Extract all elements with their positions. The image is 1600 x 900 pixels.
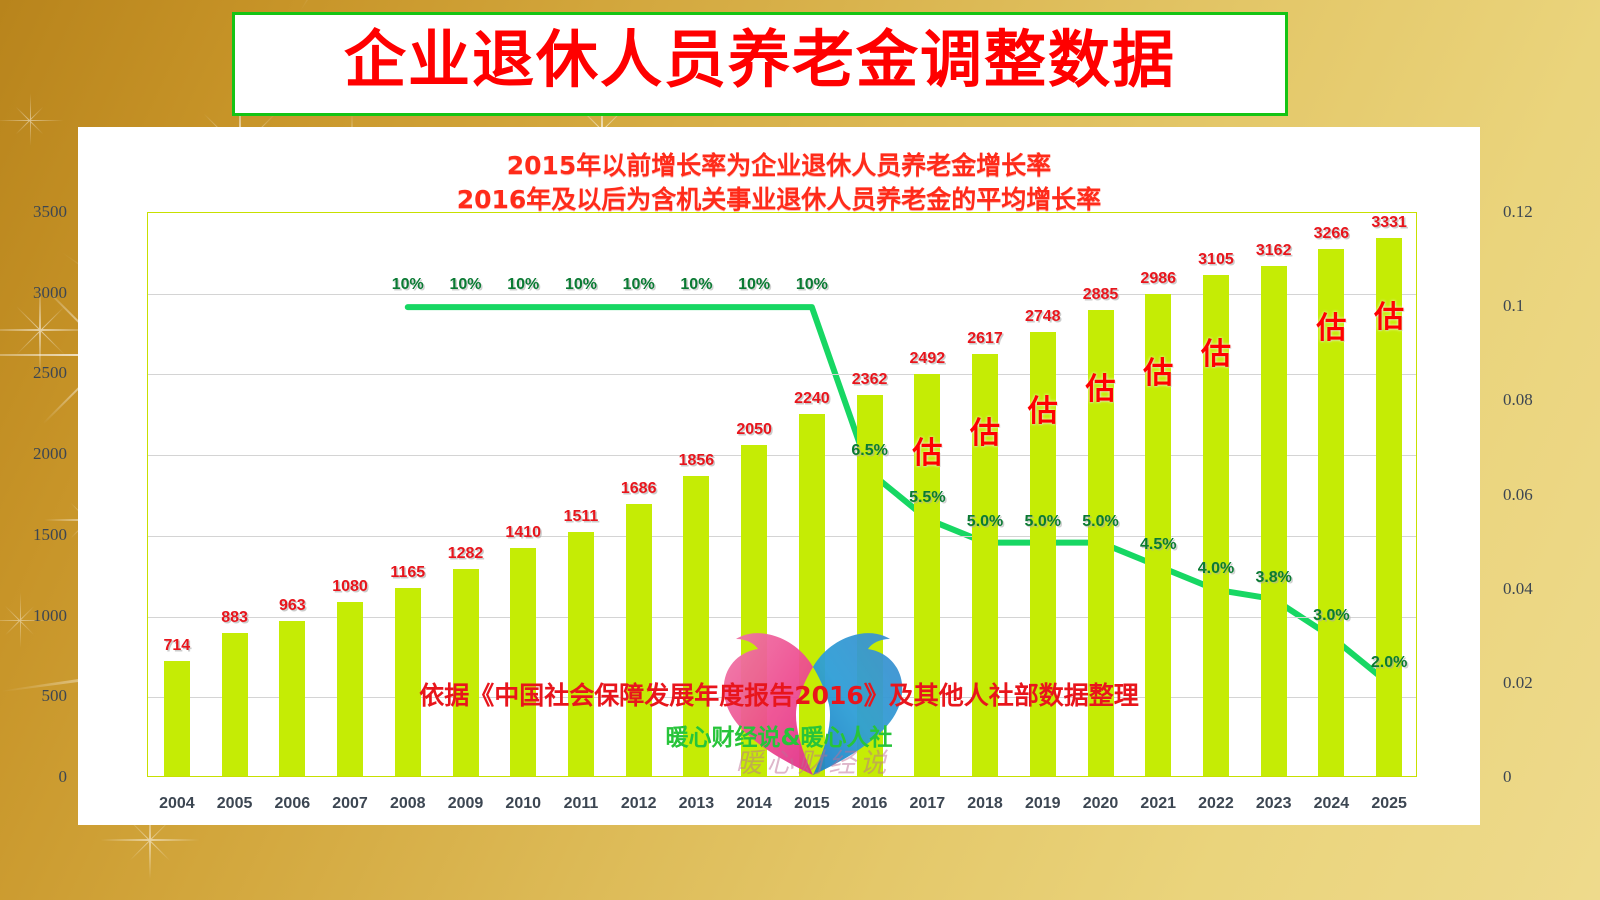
y-axis-right-tick: 0.04 — [1503, 579, 1563, 599]
estimate-mark: 估 — [1306, 303, 1356, 347]
bar-value-label: 2240 — [777, 390, 847, 408]
x-axis-tick-label: 2019 — [1013, 795, 1073, 813]
y-axis-left-tick: 1500 — [7, 525, 67, 545]
y-axis-left-tick: 2500 — [7, 363, 67, 383]
bar-value-label: 3331 — [1354, 214, 1424, 232]
estimate-mark: 估 — [1133, 348, 1183, 392]
x-axis-tick-label: 2006 — [262, 795, 322, 813]
bar-value-label: 3162 — [1239, 242, 1309, 260]
estimate-mark: 估 — [960, 408, 1010, 452]
source-note: 依据《中国社会保障发展年度报告2016》及其他人社部数据整理 — [78, 676, 1480, 712]
bar-value-label: 2748 — [1008, 308, 1078, 326]
bar-value-label: 963 — [257, 597, 327, 615]
bar-value-label: 2885 — [1066, 286, 1136, 304]
x-axis-tick-label: 2010 — [493, 795, 553, 813]
x-axis-tick-label: 2012 — [609, 795, 669, 813]
x-axis-tick-label: 2004 — [147, 795, 207, 813]
y-axis-left-tick: 3000 — [7, 283, 67, 303]
page-title-reflection: 企业退休人员养老金调整数据 — [235, 115, 1285, 116]
x-axis-tick-label: 2009 — [436, 795, 496, 813]
y-axis-left-tick: 1000 — [7, 606, 67, 626]
bar-value-label: 1511 — [546, 508, 616, 526]
estimate-mark: 估 — [1191, 329, 1241, 373]
x-axis-tick-label: 2016 — [840, 795, 900, 813]
estimate-mark: 估 — [1018, 386, 1068, 430]
x-axis-tick-label: 2024 — [1301, 795, 1361, 813]
page-title: 企业退休人员养老金调整数据 — [344, 29, 1176, 91]
chart-subtitle: 2015年以前增长率为企业退休人员养老金增长率 2016年及以后为含机关事业退休… — [78, 149, 1480, 217]
estimate-mark: 估 — [1076, 364, 1126, 408]
sparkle-streak-icon — [299, 0, 434, 12]
bar-value-label: 1856 — [661, 452, 731, 470]
y-axis-right-tick: 0.12 — [1503, 202, 1563, 222]
y-axis-right-tick: 0.02 — [1503, 673, 1563, 693]
x-axis-tick-label: 2007 — [320, 795, 380, 813]
x-axis-tick-label: 2023 — [1244, 795, 1304, 813]
chart-panel: 2015年以前增长率为企业退休人员养老金增长率 2016年及以后为含机关事业退休… — [78, 127, 1480, 825]
estimate-mark: 估 — [902, 428, 952, 472]
y-axis-right-tick: 0.1 — [1503, 296, 1563, 316]
growth-rate-label: 3.0% — [1296, 607, 1366, 625]
estimate-mark: 估 — [1364, 292, 1414, 336]
x-axis-tick-label: 2025 — [1359, 795, 1419, 813]
growth-rate-label: 6.5% — [835, 442, 905, 460]
x-axis-tick-label: 2008 — [378, 795, 438, 813]
y-axis-left-tick: 3500 — [7, 202, 67, 222]
bar-value-label: 2492 — [892, 350, 962, 368]
growth-rate-label: 5.0% — [1066, 513, 1136, 531]
x-axis-tick-label: 2021 — [1128, 795, 1188, 813]
x-axis-tick-label: 2018 — [955, 795, 1015, 813]
y-axis-left-tick: 2000 — [7, 444, 67, 464]
credit-note: 暖心财经说&暖心人社 — [78, 718, 1480, 752]
bar-value-label: 714 — [142, 637, 212, 655]
bar-value-label: 2362 — [835, 371, 905, 389]
y-axis-right-tick: 0.08 — [1503, 390, 1563, 410]
growth-rate-label: 2.0% — [1354, 654, 1424, 672]
growth-rate-label: 5.5% — [892, 489, 962, 507]
x-axis-tick-label: 2017 — [897, 795, 957, 813]
y-axis-left-tick: 500 — [7, 686, 67, 706]
growth-rate-label: 10% — [777, 276, 847, 294]
bar-value-label: 1282 — [431, 545, 501, 563]
x-axis-tick-label: 2014 — [724, 795, 784, 813]
growth-rate-label: 4.5% — [1123, 536, 1193, 554]
x-axis-tick-label: 2020 — [1071, 795, 1131, 813]
x-axis-tick-label: 2011 — [551, 795, 611, 813]
bar-value-label: 2050 — [719, 421, 789, 439]
y-axis-right-tick: 0 — [1503, 767, 1563, 787]
y-axis-right-tick: 0.06 — [1503, 485, 1563, 505]
bar-value-label: 2617 — [950, 330, 1020, 348]
x-axis-tick-label: 2013 — [666, 795, 726, 813]
bar-value-label: 1686 — [604, 480, 674, 498]
x-axis-tick-label: 2005 — [205, 795, 265, 813]
bar-value-label: 1165 — [373, 564, 443, 582]
bar-value-label: 2986 — [1123, 270, 1193, 288]
bar-value-label: 1410 — [488, 524, 558, 542]
title-banner: 企业退休人员养老金调整数据 企业退休人员养老金调整数据 — [232, 12, 1288, 116]
x-axis-tick-label: 2015 — [782, 795, 842, 813]
growth-rate-label: 3.8% — [1239, 569, 1309, 587]
y-axis-left-tick: 0 — [7, 767, 67, 787]
chart-subtitle-line-1: 2015年以前增长率为企业退休人员养老金增长率 — [78, 149, 1480, 183]
x-axis-tick-label: 2022 — [1186, 795, 1246, 813]
